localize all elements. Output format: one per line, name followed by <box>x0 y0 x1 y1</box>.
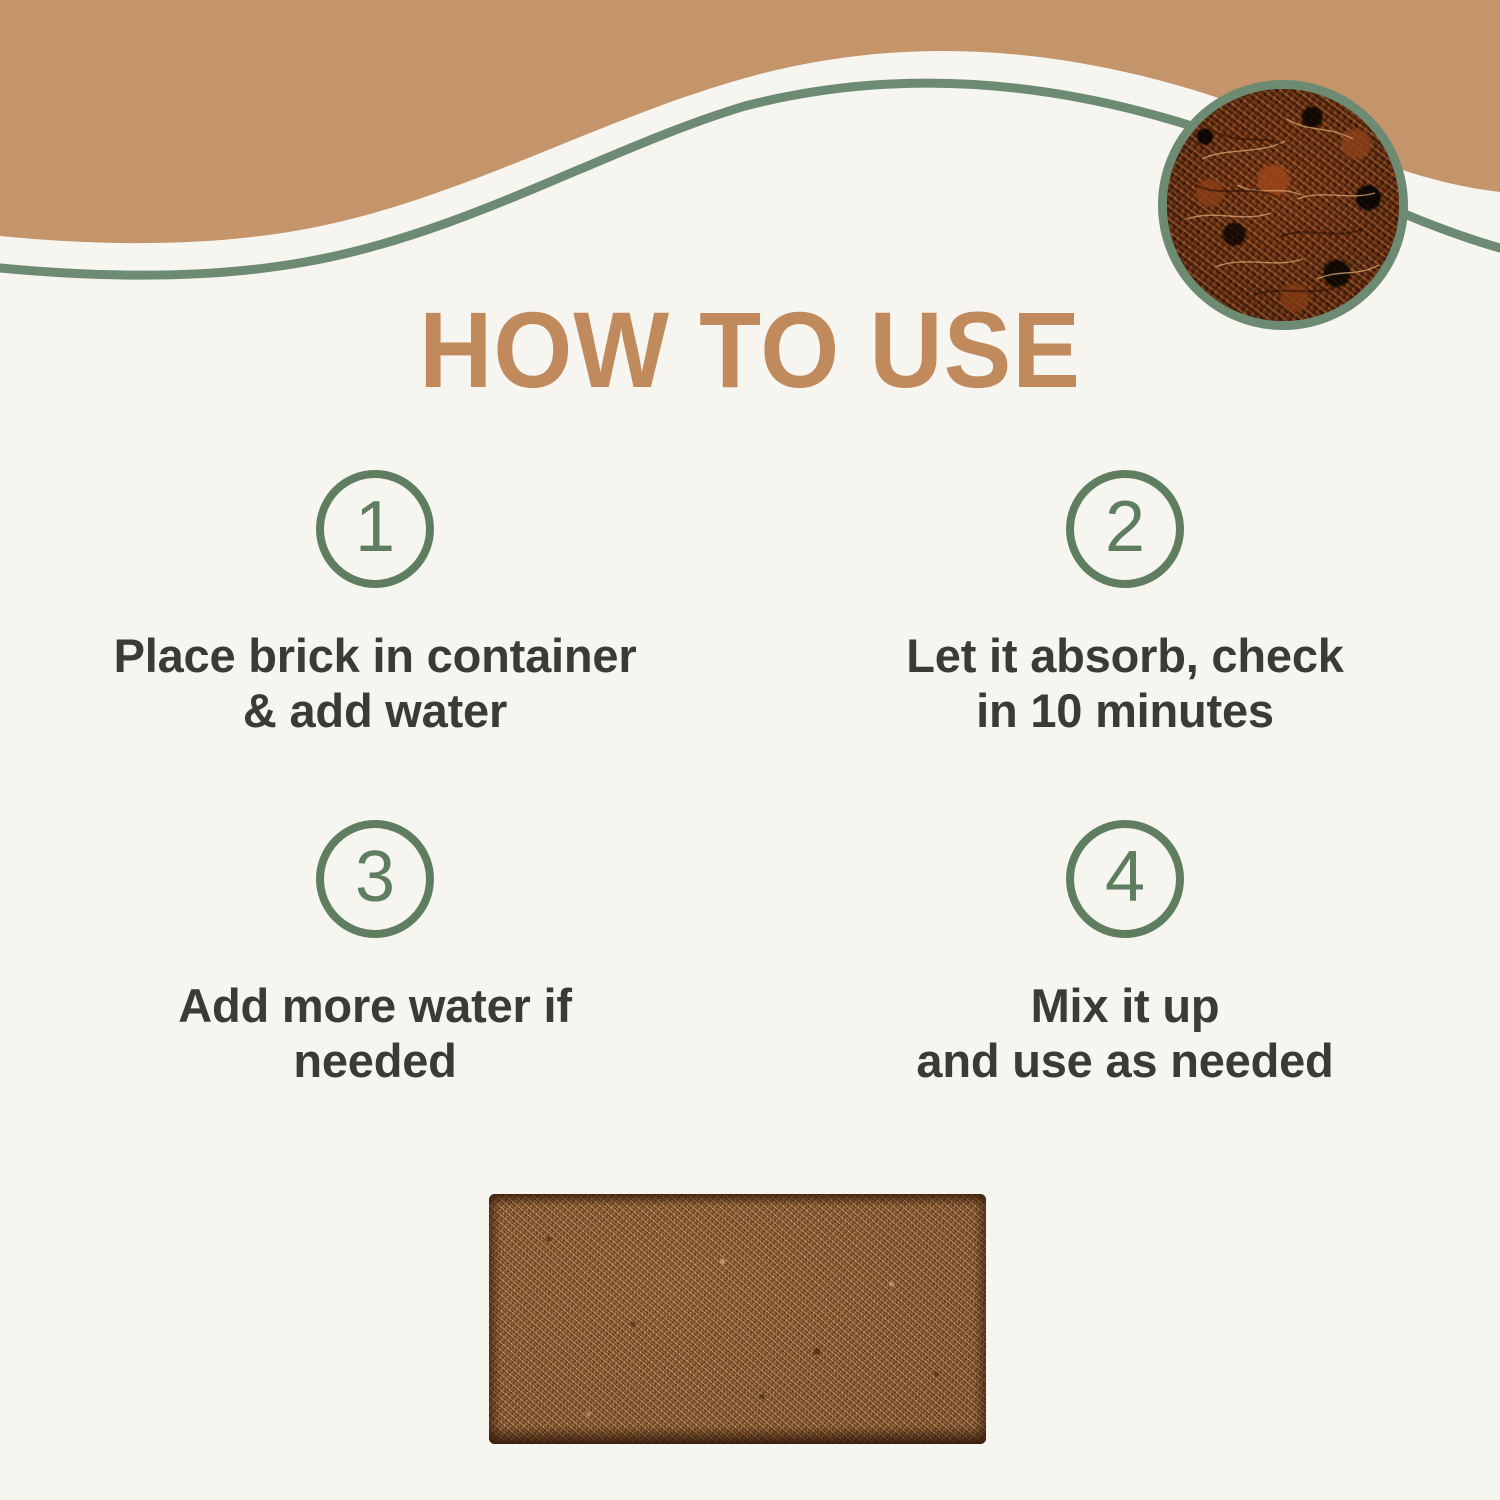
how-to-use-infographic: HOW TO USE 1 Place brick in container & … <box>0 0 1500 1500</box>
step-4: 4 Mix it up and use as needed <box>750 820 1500 1170</box>
step-3: 3 Add more water if needed <box>0 820 750 1170</box>
step-3-number-badge: 3 <box>316 820 434 938</box>
brick-right-edge <box>974 1194 986 1444</box>
step-4-label: Mix it up and use as needed <box>916 978 1333 1089</box>
step-2: 2 Let it absorb, check in 10 minutes <box>750 470 1500 820</box>
step-4-number-badge: 4 <box>1066 820 1184 938</box>
brick-speckles <box>489 1194 986 1444</box>
step-3-label: Add more water if needed <box>178 978 572 1089</box>
step-1: 1 Place brick in container & add water <box>0 470 750 820</box>
brick-left-edge <box>489 1194 501 1444</box>
coir-closeup-photo <box>1158 80 1408 330</box>
coir-fiber-strands <box>1167 89 1399 321</box>
brick-bottom-edge <box>489 1426 986 1444</box>
brick-top-edge <box>489 1194 986 1206</box>
steps-grid: 1 Place brick in container & add water 2… <box>0 470 1500 1170</box>
step-1-label: Place brick in container & add water <box>114 628 637 739</box>
step-2-label: Let it absorb, check in 10 minutes <box>906 628 1343 739</box>
step-2-number-badge: 2 <box>1066 470 1184 588</box>
coir-brick-photo <box>489 1194 986 1444</box>
step-1-number-badge: 1 <box>316 470 434 588</box>
page-title: HOW TO USE <box>45 296 1455 404</box>
